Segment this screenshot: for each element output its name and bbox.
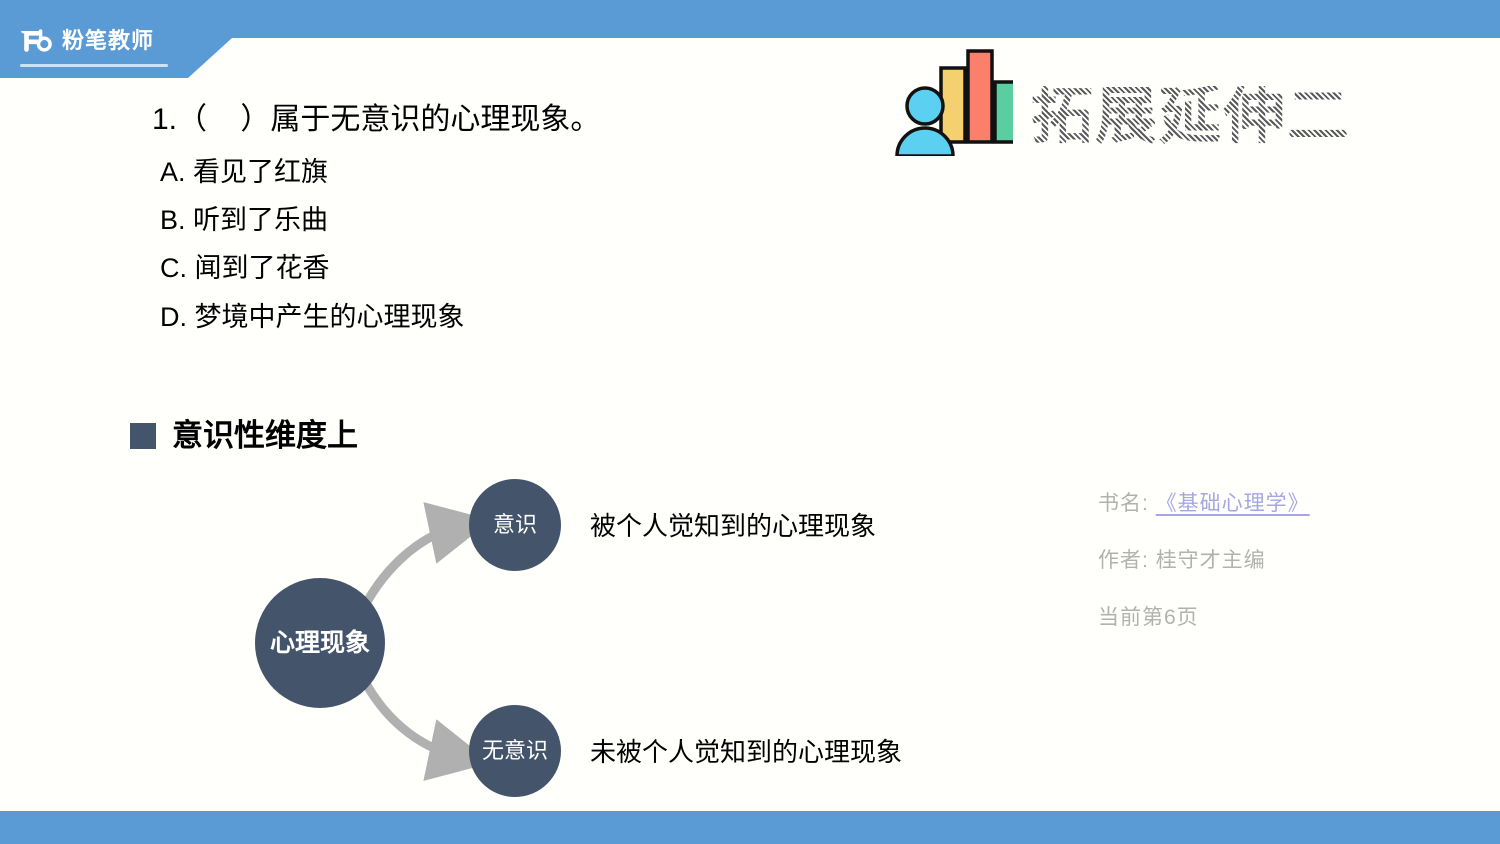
bottom-banner <box>0 811 1500 844</box>
book-title-label: 书名: <box>1098 492 1149 515</box>
question-option-d[interactable]: D. 梦境中产生的心理现象 <box>152 299 832 335</box>
book-author-label: 作者: <box>1098 549 1149 572</box>
page-title: 拓展延伸二 <box>1031 86 1351 148</box>
question-option-b[interactable]: B. 听到了乐曲 <box>152 202 832 238</box>
diagram-node-conscious[interactable]: 意识 <box>469 479 561 571</box>
header-title-stack: 拓展延伸二 拓展延伸二 <box>1031 86 1351 152</box>
concept-diagram: 心理现象 意识 无意识 被个人觉知到的心理现象 未被个人觉知到的心理现象 <box>230 460 690 810</box>
diagram-node-root[interactable]: 心理现象 <box>255 578 385 708</box>
question-block: 1.（ ）属于无意识的心理现象。 A. 看见了红旗 B. 听到了乐曲 C. 闻到… <box>152 100 832 347</box>
diagram-node-unconscious-label: 无意识 <box>482 739 548 764</box>
brand-logo-text: 粉笔教师 <box>62 30 154 52</box>
section-heading-label: 意识性维度上 <box>172 420 358 451</box>
slide-canvas: 粉笔教师 拓展延伸二 拓展延伸二 1.（ ）属于无意识的心理现象。 A. 看见了… <box>0 0 1500 844</box>
header-title-block: 拓展延伸二 拓展延伸二 <box>895 46 1351 156</box>
book-page-line: 当前第6页 <box>1098 601 1310 631</box>
diagram-node-unconscious[interactable]: 无意识 <box>469 705 561 797</box>
fb-logo-icon <box>18 26 52 56</box>
book-title-line: 书名: 《基础心理学》 <box>1098 487 1310 517</box>
square-bullet-icon <box>130 423 156 449</box>
section-heading: 意识性维度上 <box>130 420 358 451</box>
person-bar-chart-icon <box>895 46 1013 156</box>
question-option-a[interactable]: A. 看见了红旗 <box>152 154 832 190</box>
brand-logo[interactable]: 粉笔教师 <box>18 26 154 56</box>
diagram-node-root-label: 心理现象 <box>270 629 370 657</box>
diagram-node-conscious-label: 意识 <box>493 513 537 538</box>
diagram-desc-unconscious: 未被个人觉知到的心理现象 <box>590 739 902 765</box>
book-info-watermark: 书名: 《基础心理学》 作者: 桂守才主编 当前第6页 <box>1098 487 1310 658</box>
book-title-value[interactable]: 《基础心理学》 <box>1156 492 1310 515</box>
question-option-c[interactable]: C. 闻到了花香 <box>152 250 832 286</box>
question-stem: 1.（ ）属于无意识的心理现象。 <box>152 100 832 141</box>
book-author-value: 桂守才主编 <box>1156 549 1266 572</box>
logo-underline <box>20 64 168 67</box>
book-author-line: 作者: 桂守才主编 <box>1098 544 1310 574</box>
diagram-desc-conscious: 被个人觉知到的心理现象 <box>590 513 876 539</box>
